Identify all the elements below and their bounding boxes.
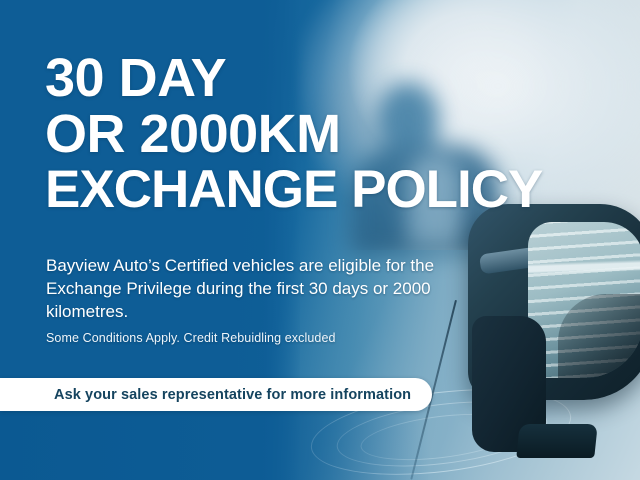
fine-print-disclaimer: Some Conditions Apply. Credit Rebuidling…	[46, 331, 336, 345]
banner-content: 30 DAY OR 2000KM EXCHANGE POLICY Bayview…	[0, 0, 640, 480]
body-paragraph: Bayview Auto’s Certified vehicles are el…	[46, 254, 486, 323]
headline-line-2: OR 2000KM	[45, 106, 630, 162]
cta-button[interactable]: Ask your sales representative for more i…	[0, 378, 432, 411]
headline-line-1: 30 DAY	[45, 50, 630, 106]
cta-button-label: Ask your sales representative for more i…	[54, 387, 411, 403]
headline-block: 30 DAY OR 2000KM EXCHANGE POLICY	[45, 50, 630, 218]
headline-line-3: EXCHANGE POLICY	[45, 162, 630, 218]
exchange-policy-banner: 30 DAY OR 2000KM EXCHANGE POLICY Bayview…	[0, 0, 640, 480]
